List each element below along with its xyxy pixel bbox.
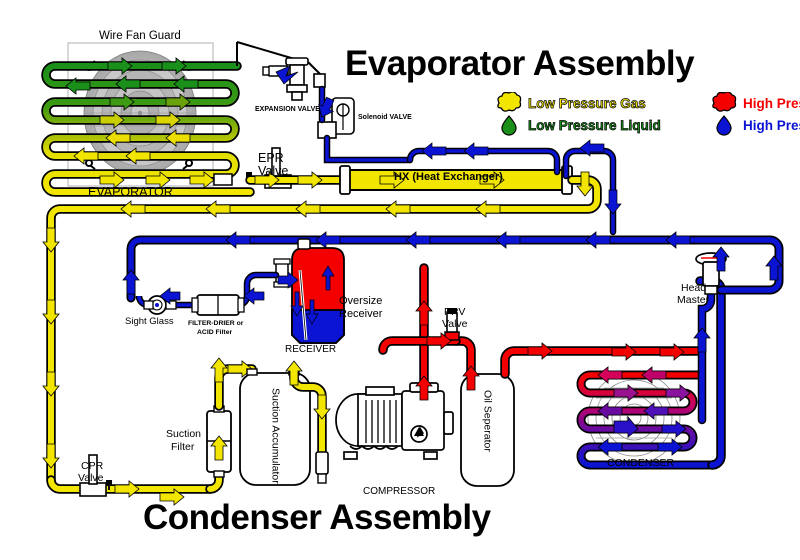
- receiver-tank: [274, 239, 344, 343]
- page-title-evaporator: Evaporator Assembly: [345, 44, 694, 84]
- page-title-condenser: Condenser Assembly: [143, 498, 491, 538]
- label-expansion-valve: EXPANSION VALVE: [255, 106, 320, 114]
- label-filter-drier-line2: ACID Filter: [197, 329, 232, 336]
- label-suction-filter-line1: Suction: [166, 429, 201, 440]
- label-solenoid-valve: Solenoid VALVE: [358, 114, 412, 122]
- legend-icon-high-pressure-liquid: [715, 114, 737, 136]
- refrigeration-system-diagram: [0, 0, 800, 560]
- label-suction-filter-line2: Filter: [171, 442, 194, 453]
- compressor: [336, 383, 453, 459]
- label-heat-exchanger: HX (Heat Exchanger): [394, 172, 503, 184]
- receiver-outlet-line: [139, 275, 276, 315]
- label-wire-fan-guard: Wire Fan Guard: [99, 30, 181, 42]
- head-master-valve: [694, 247, 729, 465]
- legend-icon-low-pressure-liquid: [500, 114, 522, 136]
- label-cpr-valve-line1: CPR: [81, 461, 103, 472]
- compressor-discharge-line: [416, 268, 432, 400]
- label-epr-valve-line2: Valve: [258, 165, 288, 179]
- label-evaporator: EVAPORATOR: [88, 186, 173, 200]
- label-suction-accumulator: Suction Accumulator: [269, 388, 280, 484]
- legend-label-high-pressure-gas: High Pressure Gas: [743, 96, 800, 111]
- suction-accumulator: [240, 361, 330, 485]
- label-head-master-line2: Master: [677, 295, 709, 306]
- condenser-coil: [581, 375, 712, 465]
- label-oversize-receiver-line2: Receiver: [339, 309, 382, 321]
- label-cpr-valve-line2: Valve: [78, 473, 104, 484]
- label-receiver: RECEIVER: [285, 345, 336, 356]
- legend-label-low-pressure-liquid: Low Pressure Liquid: [528, 118, 661, 133]
- label-condenser: CONDENSER: [607, 458, 674, 469]
- label-oil-separator: Oil Seperator: [481, 390, 492, 452]
- label-prv-valve-line1: PRV: [444, 307, 465, 318]
- label-head-master-line1: Head: [681, 283, 706, 294]
- label-oversize-receiver-line1: Oversize: [339, 296, 382, 308]
- label-sight-glass: Sight Glass: [125, 317, 174, 327]
- legend-icon-high-pressure-gas: [710, 92, 738, 114]
- legend-label-high-pressure-liquid: High Pressure Liquid: [743, 118, 800, 133]
- diagram-canvas: Evaporator Assembly Condenser Assembly L…: [0, 0, 800, 560]
- label-filter-drier-line1: FILTER-DRIER or: [188, 320, 243, 327]
- legend-icon-low-pressure-gas: [495, 92, 523, 114]
- label-compressor: COMPRESSOR: [363, 487, 435, 498]
- label-prv-valve-line2: Valve: [442, 319, 468, 330]
- evaporator-outlet-fitting: [214, 174, 232, 185]
- legend-label-low-pressure-gas: Low Pressure Gas: [528, 96, 646, 111]
